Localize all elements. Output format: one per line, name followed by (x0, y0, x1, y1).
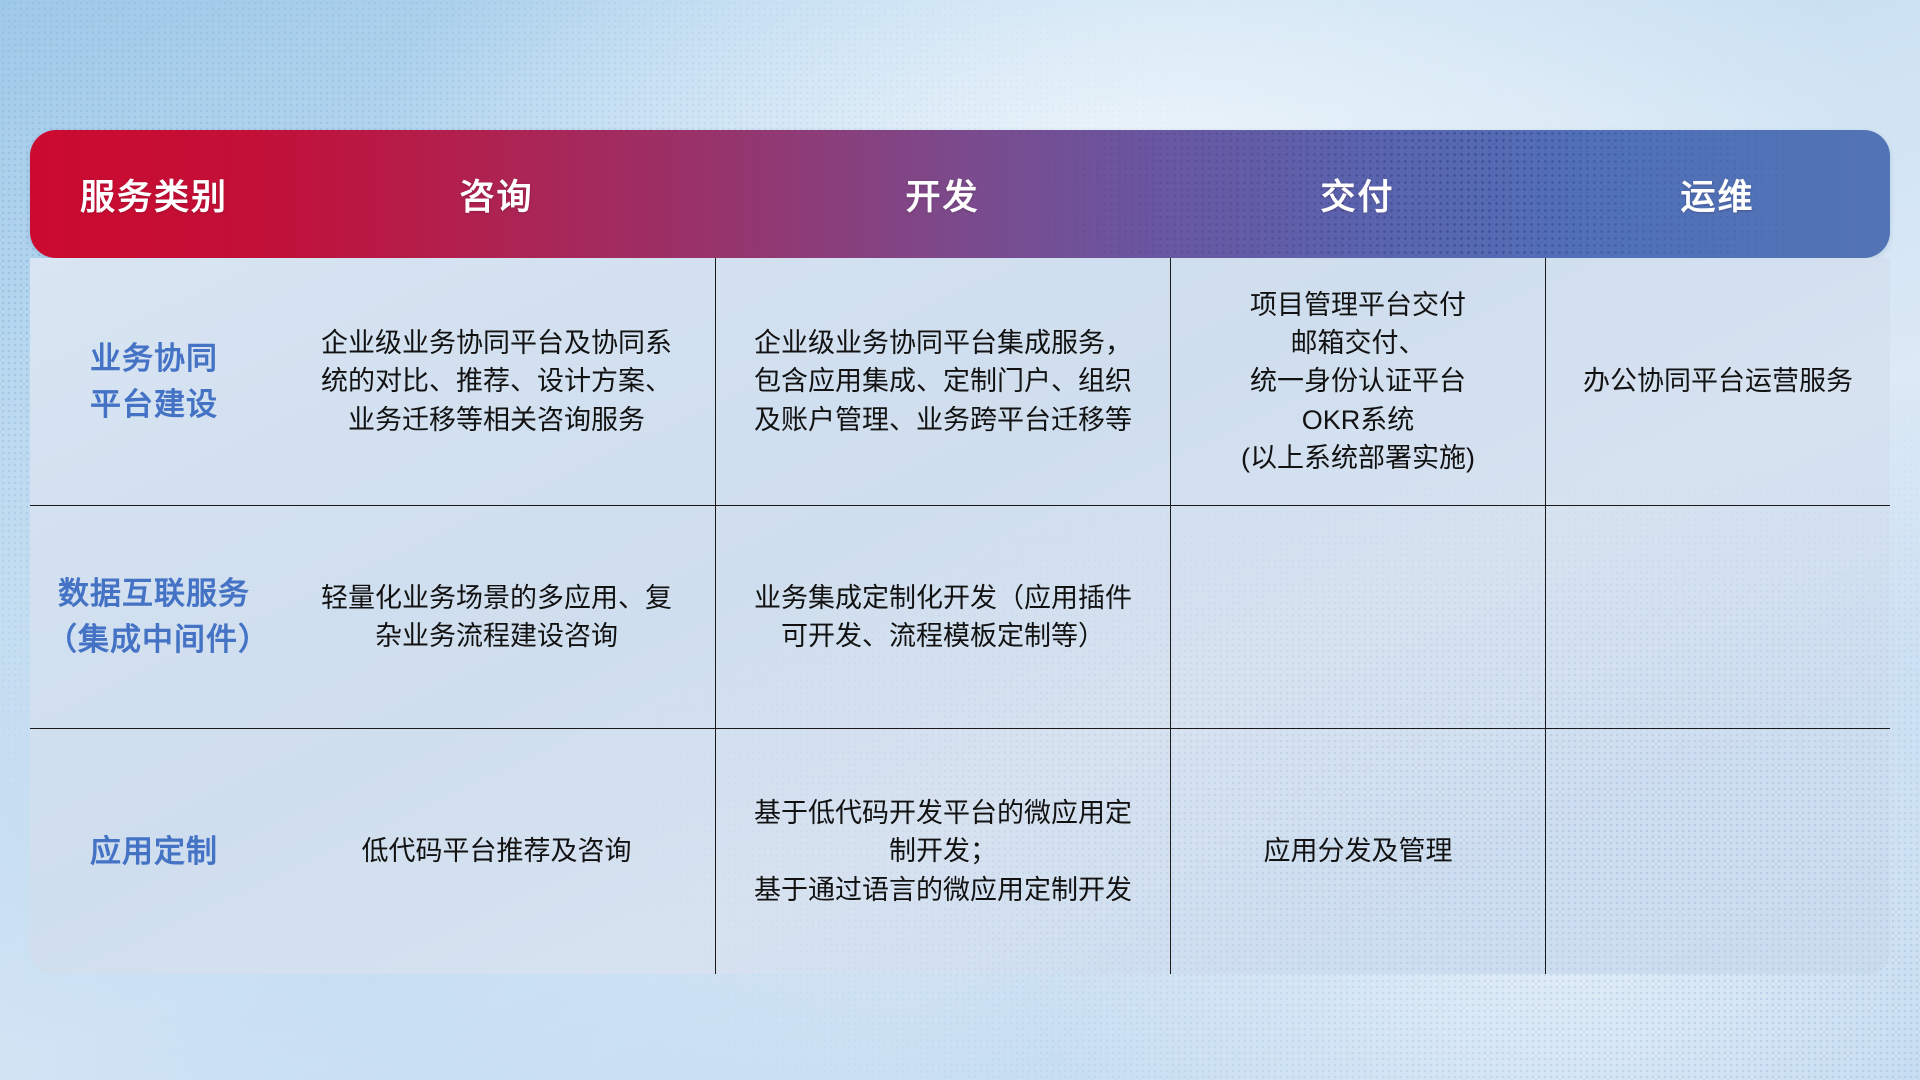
table-header-row: 服务类别 咨询 开发 交付 运维 (30, 130, 1890, 258)
column-header-operations: 运维 (1545, 169, 1890, 220)
cell-delivery: 项目管理平台交付 邮箱交付、 统一身份认证平台 OKR系统 (以上系统部署实施) (1170, 258, 1545, 505)
cell-category: 数据互联服务 （集成中间件） (30, 506, 278, 728)
cell-category: 业务协同 平台建设 (30, 258, 278, 505)
column-header-consulting: 咨询 (278, 169, 715, 220)
cell-category: 应用定制 (30, 729, 278, 974)
page-canvas: 服务类别 咨询 开发 交付 运维 业务协同 平台建设 企业级业务协同平台及协同系… (0, 0, 1920, 1080)
table-row: 数据互联服务 （集成中间件） 轻量化业务场景的多应用、复 杂业务流程建设咨询 业… (30, 505, 1890, 728)
cell-delivery: 应用分发及管理 (1170, 729, 1545, 974)
table-body: 业务协同 平台建设 企业级业务协同平台及协同系 统的对比、推荐、设计方案、 业务… (30, 258, 1890, 974)
cell-operations (1545, 729, 1890, 974)
cell-consulting: 企业级业务协同平台及协同系 统的对比、推荐、设计方案、 业务迁移等相关咨询服务 (278, 258, 715, 505)
cell-operations: 办公协同平台运营服务 (1545, 258, 1890, 505)
column-header-category: 服务类别 (30, 169, 278, 220)
cell-development: 企业级业务协同平台集成服务， 包含应用集成、定制门户、组织 及账户管理、业务跨平… (715, 258, 1170, 505)
table-row: 业务协同 平台建设 企业级业务协同平台及协同系 统的对比、推荐、设计方案、 业务… (30, 258, 1890, 505)
column-header-delivery: 交付 (1170, 169, 1545, 220)
cell-operations (1545, 506, 1890, 728)
cell-delivery (1170, 506, 1545, 728)
cell-development: 基于低代码开发平台的微应用定 制开发； 基于通过语言的微应用定制开发 (715, 729, 1170, 974)
table-row: 应用定制 低代码平台推荐及咨询 基于低代码开发平台的微应用定 制开发； 基于通过… (30, 728, 1890, 974)
cell-consulting: 轻量化业务场景的多应用、复 杂业务流程建设咨询 (278, 506, 715, 728)
cell-consulting: 低代码平台推荐及咨询 (278, 729, 715, 974)
service-category-table: 服务类别 咨询 开发 交付 运维 业务协同 平台建设 企业级业务协同平台及协同系… (30, 130, 1890, 974)
column-header-development: 开发 (715, 169, 1170, 220)
cell-development: 业务集成定制化开发（应用插件 可开发、流程模板定制等） (715, 506, 1170, 728)
